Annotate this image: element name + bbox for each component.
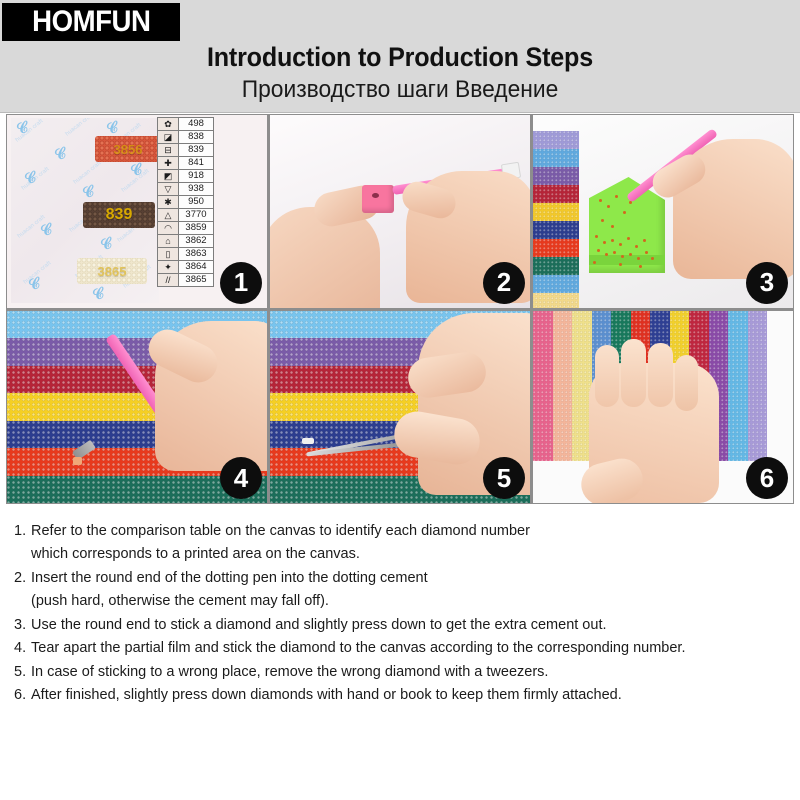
chart-symbol: ◪ bbox=[158, 131, 179, 144]
step-badge-6: 6 bbox=[746, 457, 788, 499]
chart-code: 3859 bbox=[179, 222, 214, 235]
step-panel-2: 2 bbox=[270, 115, 530, 308]
instruction-number: 5. bbox=[14, 661, 31, 683]
step-panel-3: 3 bbox=[533, 115, 793, 308]
step-badge-2: 2 bbox=[483, 262, 525, 304]
list-item: 6. After finished, slightly press down d… bbox=[14, 684, 786, 706]
chart-symbol: ▽ bbox=[158, 183, 179, 196]
table-row: ⌂3862 bbox=[158, 235, 214, 248]
instruction-text: In case of sticking to a wrong place, re… bbox=[31, 661, 786, 683]
instruction-number: 6. bbox=[14, 684, 31, 706]
chart-code: 841 bbox=[179, 157, 214, 170]
table-row: ▽938 bbox=[158, 183, 214, 196]
list-item: 1. Refer to the comparison table on the … bbox=[14, 520, 786, 542]
chart-symbol: ⌂ bbox=[158, 235, 179, 248]
table-row: ▯3863 bbox=[158, 248, 214, 261]
dotting-cement-square bbox=[362, 185, 394, 213]
finger-4 bbox=[675, 355, 698, 411]
step-panel-5: 5 bbox=[270, 311, 530, 504]
step-panel-4: 4 bbox=[7, 311, 267, 504]
chart-symbol: △ bbox=[158, 209, 179, 222]
finger-1 bbox=[595, 345, 619, 407]
step-badge-3: 3 bbox=[746, 262, 788, 304]
finger-3 bbox=[648, 343, 673, 407]
diamond-bag-red: 3856 bbox=[95, 136, 159, 162]
table-row: ◪838 bbox=[158, 131, 214, 144]
instruction-text: Insert the round end of the dotting pen … bbox=[31, 567, 786, 589]
bag-label-2: 839 bbox=[106, 206, 133, 224]
homfun-logo: HOMFUN bbox=[2, 3, 180, 41]
instruction-text: Use the round end to stick a diamond and… bbox=[31, 614, 786, 636]
instruction-number: 4. bbox=[14, 637, 31, 659]
chart-code: 938 bbox=[179, 183, 214, 196]
diamond-bag-film: huacan craft huacan craft huacan craft h… bbox=[11, 118, 159, 303]
finger-2 bbox=[621, 339, 646, 407]
list-item: 5. In case of sticking to a wrong place,… bbox=[14, 661, 786, 683]
chart-code: 839 bbox=[179, 144, 214, 157]
bag-label-3: 3865 bbox=[98, 264, 127, 279]
step-badge-4: 4 bbox=[220, 457, 262, 499]
chart-code: 950 bbox=[179, 196, 214, 209]
list-item: 4. Tear apart the partial film and stick… bbox=[14, 637, 786, 659]
page-title-russian: Производство шаги Введение bbox=[20, 76, 780, 104]
chart-code: 918 bbox=[179, 170, 214, 183]
instruction-text: Tear apart the partial film and stick th… bbox=[31, 637, 786, 659]
chart-symbol: ✿ bbox=[158, 118, 179, 131]
diamond-bag-brown: 839 bbox=[83, 202, 155, 228]
chart-symbol: ◩ bbox=[158, 170, 179, 183]
steps-photo-grid: huacan craft huacan craft huacan craft h… bbox=[6, 114, 794, 504]
step-badge-5: 5 bbox=[483, 457, 525, 499]
cement-hole bbox=[372, 193, 379, 198]
table-row: ✿498 bbox=[158, 118, 214, 131]
page-title-english: Introduction to Production Steps bbox=[28, 42, 772, 73]
table-row: ✱950 bbox=[158, 196, 214, 209]
instruction-text-continued: which corresponds to a printed area on t… bbox=[31, 543, 786, 565]
chart-code: 3863 bbox=[179, 248, 214, 261]
chart-code: 3862 bbox=[179, 235, 214, 248]
instructions-list: 1. Refer to the comparison table on the … bbox=[0, 508, 800, 800]
chart-symbol: // bbox=[158, 274, 179, 287]
instruction-number: 3. bbox=[14, 614, 31, 636]
logo-text: HOMFUN bbox=[32, 7, 150, 37]
chart-symbol: ◠ bbox=[158, 222, 179, 235]
color-comparison-table: ✿498 ◪838 ⊟839 ✚841 ◩918 ▽938 ✱950 △3770… bbox=[157, 117, 214, 287]
instruction-number: 1. bbox=[14, 520, 31, 542]
instruction-number: 2. bbox=[14, 567, 31, 589]
chart-symbol: ⊟ bbox=[158, 144, 179, 157]
color-chart-body: ✿498 ◪838 ⊟839 ✚841 ◩918 ▽938 ✱950 △3770… bbox=[158, 118, 214, 287]
table-row: //3865 bbox=[158, 274, 214, 287]
chart-code: 3864 bbox=[179, 261, 214, 274]
tweezers-tip bbox=[302, 438, 314, 444]
instruction-text: After finished, slightly press down diam… bbox=[31, 684, 786, 706]
list-item: 2. Insert the round end of the dotting p… bbox=[14, 567, 786, 589]
chart-code: 498 bbox=[179, 118, 214, 131]
chart-code: 3865 bbox=[179, 274, 214, 287]
table-row: ◠3859 bbox=[158, 222, 214, 235]
product-instruction-image: HOMFUN Introduction to Production Steps … bbox=[0, 0, 800, 800]
canvas-edge-strip bbox=[533, 131, 579, 308]
step-panel-6: 6 bbox=[533, 311, 793, 504]
table-row: ◩918 bbox=[158, 170, 214, 183]
table-row: ⊟839 bbox=[158, 144, 214, 157]
instruction-text: Refer to the comparison table on the can… bbox=[31, 520, 786, 542]
chart-symbol: ✦ bbox=[158, 261, 179, 274]
instruction-text-continued: (push hard, otherwise the cement may fal… bbox=[31, 590, 786, 612]
header: HOMFUN Introduction to Production Steps … bbox=[0, 0, 800, 113]
table-row: ✦3864 bbox=[158, 261, 214, 274]
chart-code: 838 bbox=[179, 131, 214, 144]
table-row: ✚841 bbox=[158, 157, 214, 170]
chart-symbol: ✱ bbox=[158, 196, 179, 209]
chart-symbol: ✚ bbox=[158, 157, 179, 170]
table-row: △3770 bbox=[158, 209, 214, 222]
chart-code: 3770 bbox=[179, 209, 214, 222]
step-panel-1: huacan craft huacan craft huacan craft h… bbox=[7, 115, 267, 308]
step-badge-1: 1 bbox=[220, 262, 262, 304]
chart-symbol: ▯ bbox=[158, 248, 179, 261]
diamond-bag-cream: 3865 bbox=[77, 258, 147, 284]
list-item: 3. Use the round end to stick a diamond … bbox=[14, 614, 786, 636]
diamond-on-tip bbox=[73, 457, 82, 465]
bag-label-1: 3856 bbox=[114, 142, 143, 157]
